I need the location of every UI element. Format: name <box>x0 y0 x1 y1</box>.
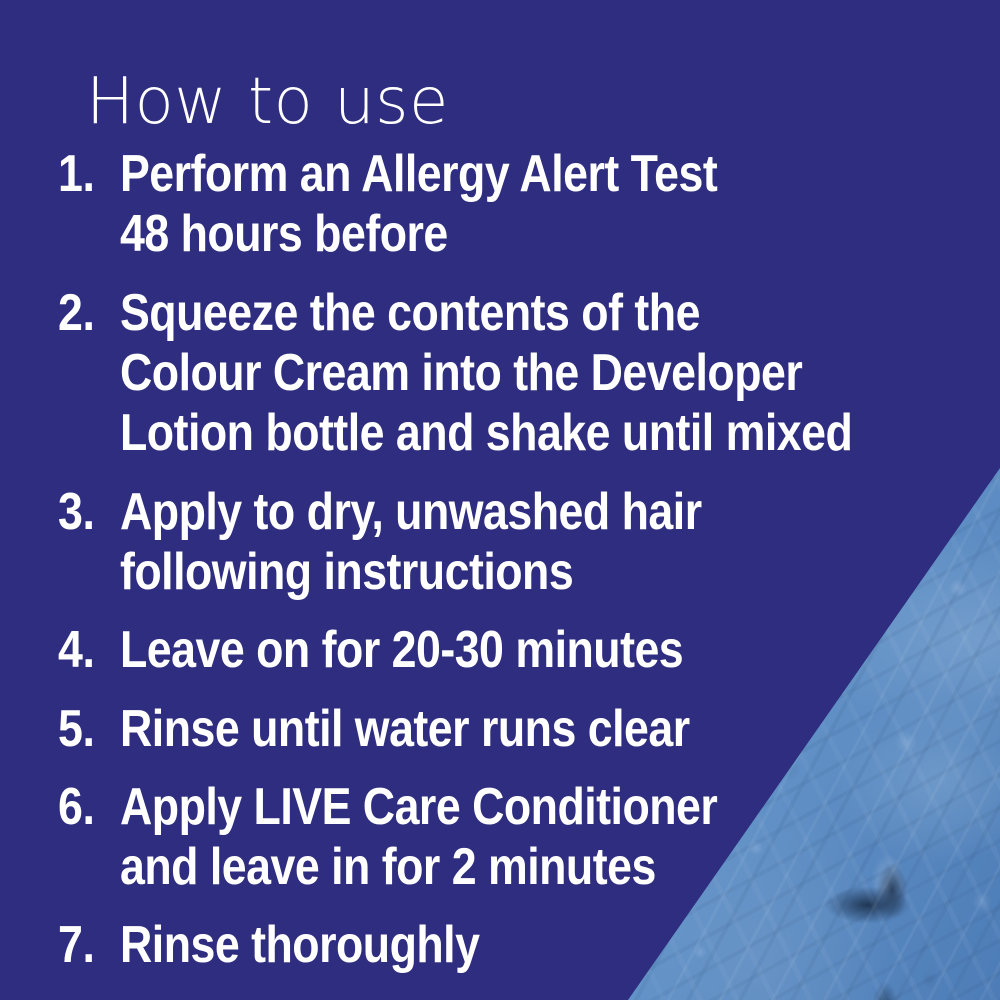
step-text: Rinse thoroughly <box>120 915 877 975</box>
list-item: 3. Apply to dry, unwashed hair following… <box>58 482 1000 603</box>
list-item: 4. Leave on for 20-30 minutes <box>58 620 1000 680</box>
step-number: 3. <box>58 482 111 542</box>
step-number: 1. <box>58 144 111 204</box>
step-text: Squeeze the contents of the Colour Cream… <box>120 283 877 464</box>
page-title: How to use <box>86 69 449 136</box>
list-item: 5. Rinse until water runs clear <box>58 699 1000 759</box>
step-number: 6. <box>58 777 111 837</box>
step-text: Perform an Allergy Alert Test 48 hours b… <box>120 144 877 265</box>
step-number: 7. <box>58 915 111 975</box>
step-text: Leave on for 20-30 minutes <box>120 620 877 680</box>
step-number: 4. <box>58 620 111 680</box>
list-item: 1. Perform an Allergy Alert Test 48 hour… <box>58 144 1000 265</box>
list-item: 2. Squeeze the contents of the Colour Cr… <box>58 283 1000 464</box>
how-to-use-poster: How to use 1. Perform an Allergy Alert T… <box>0 0 1000 1000</box>
step-text: Apply LIVE Care Conditioner and leave in… <box>120 777 877 898</box>
step-number: 2. <box>58 283 111 343</box>
list-item: 7. Rinse thoroughly <box>58 915 1000 975</box>
step-text: Rinse until water runs clear <box>120 699 877 759</box>
list-item: 6. Apply LIVE Care Conditioner and leave… <box>58 777 1000 898</box>
step-text: Apply to dry, unwashed hair following in… <box>120 482 877 603</box>
instruction-steps-list: 1. Perform an Allergy Alert Test 48 hour… <box>58 144 1000 976</box>
step-number: 5. <box>58 699 111 759</box>
